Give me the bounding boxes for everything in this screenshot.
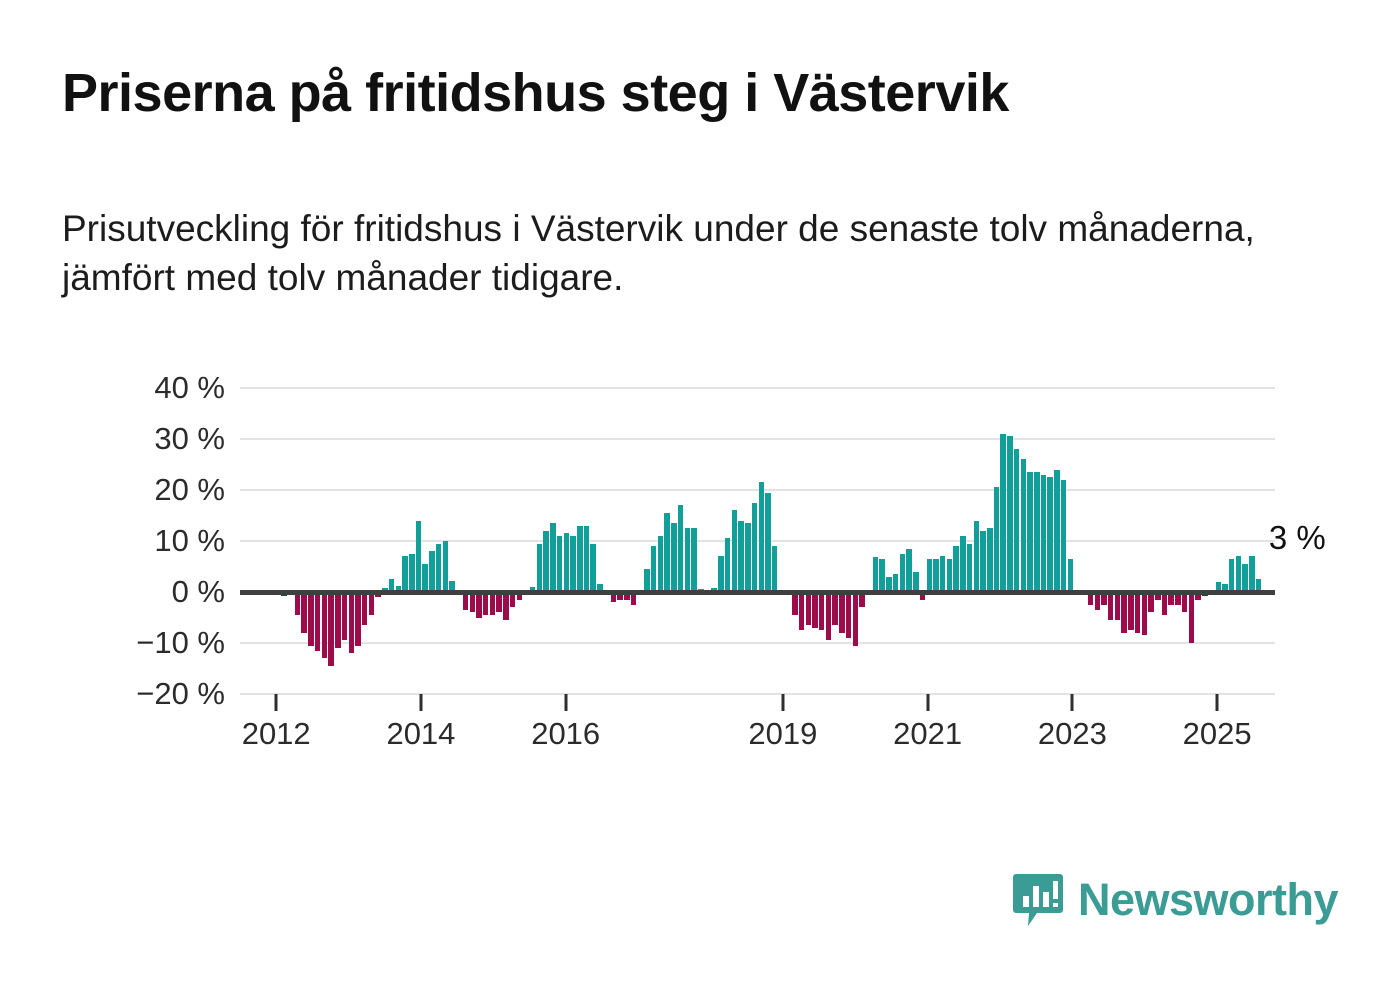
bar: [1108, 592, 1114, 620]
x-axis-tick: [275, 694, 278, 711]
y-axis-label: 10 %: [85, 523, 225, 559]
bar: [315, 592, 321, 651]
newsworthy-logo: Newsworthy: [1012, 872, 1338, 928]
y-axis-label: −20 %: [85, 676, 225, 712]
bar: [443, 541, 449, 592]
bar: [799, 592, 805, 630]
bar: [429, 551, 435, 592]
bar: [678, 505, 684, 592]
bar: [590, 544, 596, 592]
bar: [349, 592, 355, 653]
bar: [671, 523, 677, 592]
x-axis-label: 2023: [1038, 716, 1107, 752]
bar: [1229, 559, 1235, 592]
bar: [1027, 472, 1033, 592]
infographic-page: Priserna på fritidshus steg i Västervik …: [0, 0, 1382, 999]
bar: [765, 493, 771, 592]
bar: [752, 503, 758, 592]
bar: [1249, 556, 1255, 592]
bar: [1068, 559, 1074, 592]
bar: [436, 544, 442, 592]
bar: [873, 557, 879, 592]
bar: [1061, 480, 1067, 592]
bar: [933, 559, 939, 592]
bar: [1142, 592, 1148, 635]
bar: [476, 592, 482, 618]
bar: [422, 564, 428, 592]
plot-area: [240, 388, 1275, 694]
x-axis: 2012201420162019202120232025: [240, 694, 1275, 764]
bar: [1007, 436, 1013, 592]
x-axis-label: 2016: [531, 716, 600, 752]
bar: [470, 592, 476, 612]
bar: [1047, 477, 1053, 592]
bar: [812, 592, 818, 628]
bar: [1000, 434, 1006, 592]
bar: [664, 513, 670, 592]
bar: [725, 538, 731, 592]
bar: [1148, 592, 1154, 612]
bar: [335, 592, 341, 648]
bar: [550, 523, 556, 592]
bar: [913, 572, 919, 592]
y-axis-label: 30 %: [85, 421, 225, 457]
bar: [994, 487, 1000, 592]
bar: [369, 592, 375, 615]
bar: [658, 536, 664, 592]
bar: [691, 528, 697, 592]
bar: [355, 592, 361, 646]
bar: [906, 549, 912, 592]
bar: [409, 554, 415, 592]
bar: [685, 528, 691, 592]
bar: [900, 554, 906, 592]
bar-series: [240, 388, 1275, 694]
bar: [402, 556, 408, 592]
bar: [953, 546, 959, 592]
bar: [1189, 592, 1195, 643]
bar: [718, 556, 724, 592]
bar: [772, 546, 778, 592]
bar: [732, 510, 738, 592]
bar: [1021, 459, 1027, 592]
bar: [570, 536, 576, 592]
y-axis: 40 %30 %20 %10 %0 %−10 %−20 %: [80, 388, 225, 694]
x-axis-label: 2021: [893, 716, 962, 752]
bar: [1121, 592, 1127, 633]
y-axis-label: 20 %: [85, 472, 225, 508]
bar: [980, 531, 986, 592]
x-axis-tick: [419, 694, 422, 711]
bar: [1182, 592, 1188, 612]
bar: [987, 528, 993, 592]
bar: [940, 556, 946, 592]
bar: [806, 592, 812, 625]
last-value-annotation: 3 %: [1269, 519, 1326, 557]
bar: [1041, 475, 1047, 592]
bar: [826, 592, 832, 640]
bar: [1162, 592, 1168, 615]
bar: [644, 569, 650, 592]
bar: [416, 521, 422, 592]
bar: [846, 592, 852, 638]
bar: [1014, 449, 1020, 592]
y-axis-label: 40 %: [85, 370, 225, 406]
x-axis-tick: [1071, 694, 1074, 711]
bar: [490, 592, 496, 615]
bar: [738, 521, 744, 592]
bar: [947, 559, 953, 592]
bar: [301, 592, 307, 633]
bar: [927, 559, 933, 592]
bar: [832, 592, 838, 625]
x-axis-tick: [564, 694, 567, 711]
bar: [1115, 592, 1121, 620]
bar: [1128, 592, 1134, 630]
bar: [967, 544, 973, 592]
bar: [1054, 470, 1060, 592]
x-axis-label: 2012: [242, 716, 311, 752]
bar: [1135, 592, 1141, 633]
bar: [295, 592, 301, 615]
bar: [564, 533, 570, 592]
bar: [1034, 472, 1040, 592]
x-axis-label: 2025: [1183, 716, 1252, 752]
bar: [543, 531, 549, 592]
bar: [322, 592, 328, 658]
bar-chart: 40 %30 %20 %10 %0 %−10 %−20 % 2012201420…: [0, 0, 1382, 999]
bar: [1236, 556, 1242, 592]
bar: [839, 592, 845, 633]
bar: [759, 482, 765, 592]
bar: [879, 559, 885, 592]
bar-chart-speech-bubble-icon: [1012, 872, 1064, 928]
bar: [557, 536, 563, 592]
bar: [974, 521, 980, 592]
bar: [308, 592, 314, 646]
bar: [960, 536, 966, 592]
bar: [496, 592, 502, 612]
bar: [503, 592, 509, 620]
bar: [342, 592, 348, 640]
bar: [328, 592, 334, 666]
logo-wordmark: Newsworthy: [1078, 874, 1338, 926]
bar: [584, 526, 590, 592]
bar: [651, 546, 657, 592]
x-axis-tick: [1216, 694, 1219, 711]
zero-line: [240, 590, 1275, 595]
bar: [1242, 564, 1248, 592]
bar: [819, 592, 825, 630]
bar: [362, 592, 368, 625]
bar: [537, 544, 543, 592]
bar: [792, 592, 798, 615]
bar: [853, 592, 859, 646]
bar: [483, 592, 489, 615]
x-axis-tick: [781, 694, 784, 711]
bar: [577, 526, 583, 592]
y-axis-label: 0 %: [85, 574, 225, 610]
bar: [745, 523, 751, 592]
x-axis-label: 2014: [386, 716, 455, 752]
y-axis-label: −10 %: [85, 625, 225, 661]
x-axis-label: 2019: [748, 716, 817, 752]
x-axis-tick: [926, 694, 929, 711]
